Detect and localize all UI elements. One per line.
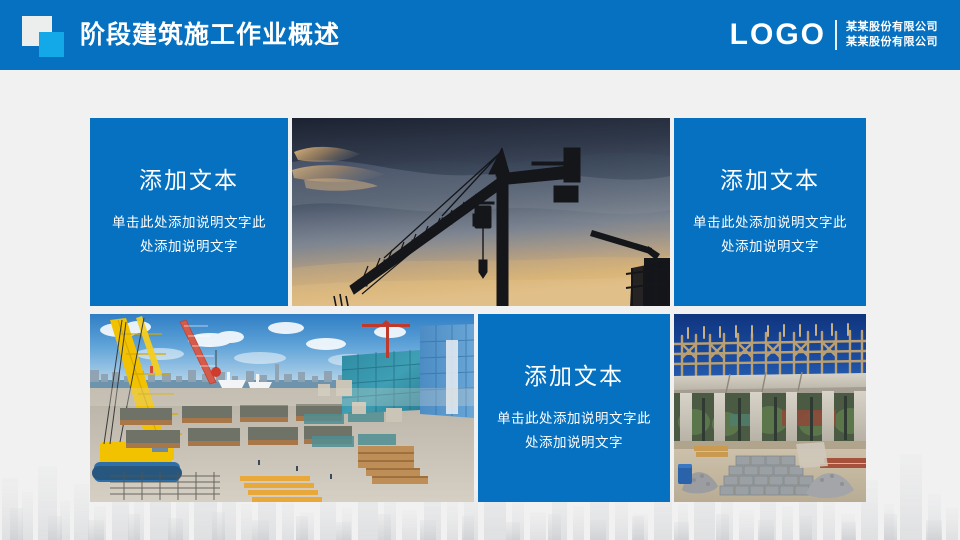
- text-tile-middle-title: 添加文本: [524, 361, 624, 391]
- slide-header-bar: 阶段建筑施工作业概述 LOGO 某某股份有限公司 某某股份有限公司: [0, 0, 960, 70]
- large-construction-site-with-yellow-crawler-crane-photo: [90, 314, 474, 502]
- text-tile-left-title: 添加文本: [139, 165, 239, 195]
- text-tile-right-body: 单击此处添加说明文字此处添加说明文字: [690, 211, 850, 259]
- text-tile-middle[interactable]: 添加文本 单击此处添加说明文字此处添加说明文字: [478, 314, 670, 502]
- concrete-frame-building-under-construction-photo: [674, 314, 866, 502]
- brand-company-line-2: 某某股份有限公司: [846, 36, 938, 49]
- brand-company-line-1: 某某股份有限公司: [846, 21, 938, 34]
- brand-logo-group: LOGO 某某股份有限公司 某某股份有限公司: [730, 14, 938, 56]
- page-title: 阶段建筑施工作业概述: [80, 19, 340, 51]
- square-cyan-icon: [39, 32, 64, 57]
- text-tile-right[interactable]: 添加文本 单击此处添加说明文字此处添加说明文字: [674, 118, 866, 306]
- brand-company-lines: 某某股份有限公司 某某股份有限公司: [846, 21, 938, 49]
- text-tile-middle-body: 单击此处添加说明文字此处添加说明文字: [494, 407, 654, 455]
- photo-tile-concrete-frame[interactable]: [674, 314, 866, 502]
- brand-divider: [835, 20, 837, 50]
- text-tile-left-body: 单击此处添加说明文字此处添加说明文字: [109, 211, 269, 259]
- photo-tile-construction-site[interactable]: [90, 314, 474, 502]
- header-squares-icon: [22, 16, 72, 58]
- text-tile-left[interactable]: 添加文本 单击此处添加说明文字此处添加说明文字: [90, 118, 288, 306]
- slide-canvas: 阶段建筑施工作业概述 LOGO 某某股份有限公司 某某股份有限公司 添加文本 单…: [0, 0, 960, 540]
- text-tile-right-title: 添加文本: [720, 165, 820, 195]
- photo-tile-tower-crane-at-dusk[interactable]: [292, 118, 670, 306]
- brand-logo-text: LOGO: [730, 18, 826, 52]
- tower-crane-at-dusk-photo: [292, 118, 670, 306]
